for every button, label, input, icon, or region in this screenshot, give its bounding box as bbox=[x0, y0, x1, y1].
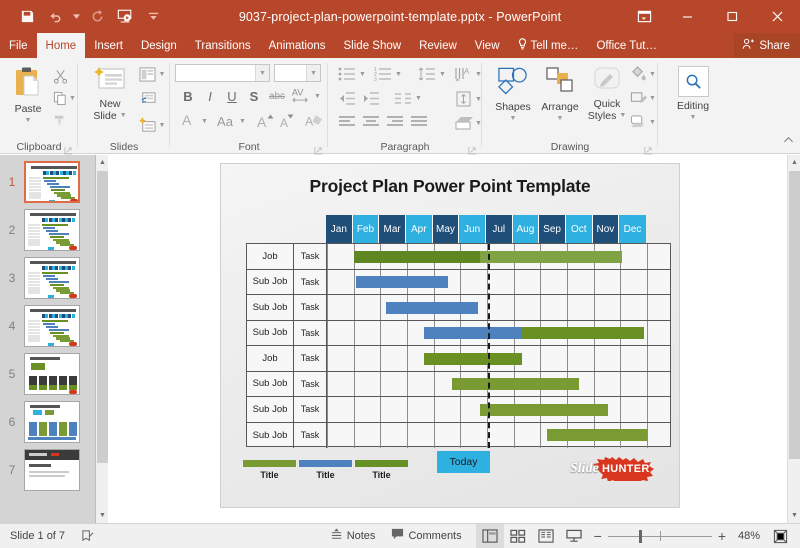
section-dropdown-icon[interactable]: ▼ bbox=[157, 114, 167, 136]
close-button[interactable] bbox=[755, 0, 800, 33]
thumbnail-number: 3 bbox=[0, 271, 24, 285]
thumbnail-number: 4 bbox=[0, 319, 24, 333]
gantt-job-label: Job bbox=[247, 346, 294, 371]
paste-icon bbox=[13, 66, 43, 101]
zoom-slider-handle[interactable] bbox=[639, 530, 642, 543]
month-header-feb: Feb bbox=[353, 215, 380, 243]
today-marker-label[interactable]: Today bbox=[437, 451, 490, 473]
notes-button[interactable]: Notes bbox=[322, 524, 384, 548]
minimize-button[interactable] bbox=[665, 0, 710, 33]
gantt-bar[interactable] bbox=[480, 404, 608, 416]
align-right-button[interactable] bbox=[384, 112, 406, 132]
editing-dropdown-icon[interactable]: ▼ bbox=[690, 114, 697, 122]
increase-font-size-button[interactable]: A bbox=[256, 110, 278, 132]
justify-button[interactable] bbox=[408, 112, 430, 132]
ribbon-group-paragraph: ▼ 123 ▼ ▼ A ▼ ▼ bbox=[328, 58, 482, 154]
legend-item-2: Title bbox=[355, 460, 408, 480]
notes-icon bbox=[330, 528, 343, 544]
stage-scroll-up-icon[interactable]: ▲ bbox=[788, 155, 800, 170]
stage-scroll-thumb[interactable] bbox=[789, 171, 800, 459]
spellcheck-icon[interactable] bbox=[73, 524, 103, 548]
svg-text:A: A bbox=[464, 67, 470, 76]
thumbnail-scrollbar[interactable]: ▲ ▼ bbox=[95, 155, 108, 523]
shape-effects-dropdown-icon[interactable]: ▼ bbox=[648, 112, 657, 132]
gantt-bar[interactable] bbox=[547, 429, 647, 441]
legend-label: Title bbox=[243, 470, 296, 480]
font-color-dropdown-icon[interactable]: ▼ bbox=[200, 110, 209, 132]
align-center-button[interactable] bbox=[360, 112, 382, 132]
bullets-button[interactable] bbox=[336, 64, 358, 84]
title-bar: 9037-project-plan-powerpoint-template.pp… bbox=[0, 0, 800, 33]
gantt-bar[interactable] bbox=[386, 302, 478, 314]
arrange-dropdown-icon[interactable]: ▼ bbox=[557, 115, 564, 123]
thumbnail-preview[interactable] bbox=[24, 161, 80, 203]
line-spacing-button[interactable] bbox=[416, 64, 438, 84]
comment-icon bbox=[391, 528, 404, 544]
comments-button[interactable]: Comments bbox=[383, 524, 469, 548]
gantt-month-header: JanFebMarAprMayJunJulAugSepOctNovDec bbox=[326, 215, 646, 243]
font-color-button[interactable]: A bbox=[178, 110, 200, 132]
month-header-jul: Jul bbox=[486, 215, 513, 243]
powerpoint-window: 9037-project-plan-powerpoint-template.pp… bbox=[0, 0, 800, 548]
thumbnail-number: 5 bbox=[0, 367, 24, 381]
new-slide-button[interactable]: New Slide ▼ bbox=[86, 66, 134, 122]
thumbnail-item-6[interactable]: 6 bbox=[0, 401, 96, 443]
character-spacing-button[interactable]: AV bbox=[289, 85, 313, 106]
gantt-bar[interactable] bbox=[356, 276, 448, 288]
gantt-row[interactable]: Sub JobTask bbox=[247, 295, 670, 321]
tab-view[interactable]: View bbox=[466, 33, 509, 58]
gantt-job-label: Sub Job bbox=[247, 423, 294, 449]
paste-button[interactable]: Paste ▼ bbox=[6, 66, 50, 125]
lightbulb-icon bbox=[518, 38, 527, 53]
gantt-task-label: Task bbox=[294, 321, 327, 346]
ribbon-group-editing: Editing ▼ bbox=[658, 58, 728, 154]
notes-label: Notes bbox=[347, 530, 376, 542]
tab-office-tutorials[interactable]: Office Tut… bbox=[587, 33, 666, 58]
svg-text:A: A bbox=[305, 115, 314, 129]
arrange-button[interactable]: Arrange ▼ bbox=[537, 66, 583, 123]
share-button[interactable]: Share bbox=[734, 33, 800, 58]
month-header-sep: Sep bbox=[539, 215, 566, 243]
thumbnail-item-7[interactable]: 7 bbox=[0, 449, 96, 491]
ribbon-display-options-icon[interactable] bbox=[623, 0, 665, 33]
status-bar: Slide 1 of 7 Notes Comments bbox=[0, 523, 800, 548]
fit-to-window-button[interactable] bbox=[766, 524, 794, 548]
gantt-job-label: Job bbox=[247, 244, 294, 269]
gantt-bar[interactable] bbox=[452, 378, 579, 390]
thumbnail-number: 6 bbox=[0, 415, 24, 429]
shape-effects-button[interactable] bbox=[628, 112, 648, 132]
legend-swatch bbox=[243, 460, 296, 467]
thumbnail-scroll-thumb[interactable] bbox=[97, 171, 108, 463]
comments-label: Comments bbox=[408, 530, 461, 542]
cut-button[interactable] bbox=[50, 66, 70, 86]
format-painter-button[interactable] bbox=[50, 110, 70, 130]
thumbnail-number: 7 bbox=[0, 463, 24, 477]
slideshow-view-button[interactable] bbox=[560, 524, 588, 548]
legend-item-1: Title bbox=[299, 460, 352, 480]
gantt-row[interactable]: Sub JobTask bbox=[247, 270, 670, 296]
find-icon bbox=[678, 66, 709, 97]
gantt-task-label: Task bbox=[294, 397, 327, 422]
logo-script-text: Slide bbox=[570, 461, 599, 477]
paragraph-dialog-launcher[interactable] bbox=[468, 142, 478, 152]
svg-text:3: 3 bbox=[374, 77, 377, 82]
gantt-row[interactable]: Sub JobTask bbox=[247, 397, 670, 423]
gantt-job-label: Sub Job bbox=[247, 270, 294, 295]
tab-home[interactable]: Home bbox=[37, 33, 86, 58]
slide-editing-stage[interactable]: Project Plan Power Point Template JanFeb… bbox=[108, 155, 787, 523]
slide-thumbnail-pane[interactable]: 1234567 bbox=[0, 155, 108, 523]
layout-button[interactable] bbox=[136, 64, 158, 84]
quick-styles-button[interactable]: Quick Styles ▼ bbox=[584, 66, 630, 122]
editing-label: Editing bbox=[677, 100, 709, 112]
slide-canvas[interactable]: Project Plan Power Point Template JanFeb… bbox=[220, 163, 680, 508]
change-case-button[interactable]: Aa bbox=[212, 110, 238, 132]
legend-label: Title bbox=[299, 470, 352, 480]
shapes-dropdown-icon[interactable]: ▼ bbox=[510, 115, 517, 123]
legend-swatch bbox=[355, 460, 408, 467]
thumbnail-number: 2 bbox=[0, 223, 24, 237]
reset-button[interactable] bbox=[136, 88, 158, 110]
tab-tell-me-label: Tell me… bbox=[531, 40, 579, 52]
ribbon: Paste ▼ ▼ Clipboard bbox=[0, 58, 800, 154]
gantt-task-label: Task bbox=[294, 295, 327, 320]
ribbon-group-clipboard: Paste ▼ ▼ Clipboard bbox=[0, 58, 78, 154]
month-header-nov: Nov bbox=[593, 215, 620, 243]
columns-dropdown-icon[interactable]: ▼ bbox=[414, 88, 423, 108]
change-case-dropdown-icon[interactable]: ▼ bbox=[238, 110, 247, 132]
quick-styles-icon bbox=[591, 66, 623, 97]
month-header-may: May bbox=[433, 215, 460, 243]
tab-insert[interactable]: Insert bbox=[85, 33, 132, 58]
tab-design[interactable]: Design bbox=[132, 33, 186, 58]
thumbnail-preview[interactable] bbox=[24, 209, 80, 251]
group-label-paragraph: Paragraph bbox=[328, 141, 482, 153]
increase-indent-button[interactable] bbox=[360, 88, 382, 108]
zoom-level-label: 48% bbox=[732, 524, 766, 548]
month-header-aug: Aug bbox=[513, 215, 540, 243]
gantt-task-label: Task bbox=[294, 423, 327, 449]
layout-dropdown-icon[interactable]: ▼ bbox=[157, 64, 167, 84]
shape-outline-dropdown-icon[interactable]: ▼ bbox=[648, 88, 657, 108]
align-left-button[interactable] bbox=[336, 112, 358, 132]
gantt-task-label: Task bbox=[294, 244, 327, 269]
thumbnail-preview[interactable] bbox=[24, 305, 80, 347]
tab-animations[interactable]: Animations bbox=[260, 33, 335, 58]
character-spacing-dropdown-icon[interactable]: ▼ bbox=[313, 86, 322, 106]
bold-button[interactable]: B bbox=[178, 86, 198, 106]
group-label-slides: Slides bbox=[78, 141, 170, 153]
align-text-button[interactable] bbox=[452, 88, 474, 110]
drawing-dialog-launcher[interactable] bbox=[644, 142, 654, 152]
text-shadow-button[interactable]: S bbox=[244, 86, 264, 106]
svg-text:A: A bbox=[280, 116, 288, 130]
month-header-oct: Oct bbox=[566, 215, 593, 243]
gantt-bar[interactable] bbox=[354, 251, 481, 263]
thumbnail-preview[interactable] bbox=[24, 353, 80, 395]
shapes-icon bbox=[497, 66, 530, 99]
person-share-icon bbox=[742, 38, 754, 53]
shape-outline-button[interactable] bbox=[628, 88, 648, 108]
gantt-row[interactable]: Sub JobTask bbox=[247, 423, 670, 449]
thumbnail-item-3[interactable]: 3 bbox=[0, 257, 96, 299]
thumbnail-item-5[interactable]: 5 bbox=[0, 353, 96, 395]
shapes-label: Shapes bbox=[495, 101, 531, 113]
gantt-job-label: Sub Job bbox=[247, 397, 294, 422]
quick-styles-label-2: Styles bbox=[588, 110, 617, 122]
text-direction-button[interactable]: A bbox=[452, 64, 474, 84]
legend-item-0: Title bbox=[243, 460, 296, 480]
thumbnail-item-2[interactable]: 2 bbox=[0, 209, 96, 251]
decrease-font-size-button[interactable]: A bbox=[278, 110, 300, 132]
shape-fill-dropdown-icon[interactable]: ▼ bbox=[648, 64, 657, 84]
maximize-button[interactable] bbox=[710, 0, 755, 33]
thumbnail-item-1[interactable]: 1 bbox=[0, 161, 96, 203]
line-spacing-dropdown-icon[interactable]: ▼ bbox=[438, 64, 447, 84]
paste-dropdown-icon[interactable]: ▼ bbox=[25, 117, 32, 125]
tab-file[interactable]: File bbox=[0, 33, 37, 58]
font-size-dropdown-icon[interactable]: ▼ bbox=[306, 65, 320, 81]
tab-transitions[interactable]: Transitions bbox=[186, 33, 260, 58]
ribbon-group-font: ▼ ▼ B I U S abc AV ▼ A ▼ Aa ▼ A bbox=[170, 58, 328, 154]
strikethrough-button[interactable]: abc bbox=[266, 86, 288, 106]
gantt-bar[interactable] bbox=[480, 251, 621, 263]
logo-burst-shape: HUNTER bbox=[593, 457, 659, 481]
today-marker-line bbox=[488, 244, 490, 448]
numbering-dropdown-icon[interactable]: ▼ bbox=[394, 64, 403, 84]
ribbon-tab-bar: File Home Insert Design Transitions Anim… bbox=[0, 33, 800, 58]
gantt-bar[interactable] bbox=[522, 327, 645, 339]
gantt-task-label: Task bbox=[294, 372, 327, 397]
quick-styles-dropdown-icon[interactable]: ▼ bbox=[619, 112, 626, 120]
tab-slide-show[interactable]: Slide Show bbox=[335, 33, 411, 58]
reading-view-button[interactable] bbox=[532, 524, 560, 548]
gantt-legend: TitleTitleTitle bbox=[243, 460, 408, 480]
thumbnail-number: 1 bbox=[0, 175, 24, 189]
stage-vertical-scrollbar[interactable]: ▲ ▼ bbox=[787, 155, 800, 523]
convert-to-smartart-button[interactable] bbox=[452, 112, 474, 134]
gantt-row[interactable]: JobTask bbox=[247, 346, 670, 372]
zoom-out-button[interactable]: − bbox=[588, 524, 608, 548]
underline-button[interactable]: U bbox=[222, 86, 242, 106]
font-dialog-launcher[interactable] bbox=[314, 142, 324, 152]
gantt-job-label: Sub Job bbox=[247, 295, 294, 320]
ribbon-group-slides: New Slide ▼ ▼ ▼ Slides bbox=[78, 58, 170, 154]
bullets-dropdown-icon[interactable]: ▼ bbox=[358, 64, 367, 84]
clipboard-dialog-launcher[interactable] bbox=[64, 142, 74, 152]
copy-dropdown-icon[interactable]: ▼ bbox=[68, 88, 77, 108]
slide-title[interactable]: Project Plan Power Point Template bbox=[221, 176, 679, 197]
arrange-icon bbox=[544, 66, 576, 99]
quick-styles-label-1: Quick bbox=[594, 98, 621, 110]
editing-button[interactable]: Editing ▼ bbox=[669, 66, 717, 122]
zoom-slider[interactable] bbox=[608, 524, 712, 548]
slide-counter: Slide 1 of 7 bbox=[0, 524, 73, 548]
ribbon-group-drawing: Shapes ▼ Arrange ▼ bbox=[482, 58, 658, 154]
gantt-row[interactable]: Sub JobTask bbox=[247, 321, 670, 347]
month-header-dec: Dec bbox=[619, 215, 646, 243]
legend-label: Title bbox=[355, 470, 408, 480]
font-name-dropdown-icon[interactable]: ▼ bbox=[255, 65, 269, 81]
decrease-indent-button[interactable] bbox=[336, 88, 358, 108]
shapes-button[interactable]: Shapes ▼ bbox=[490, 66, 536, 123]
gantt-bar[interactable] bbox=[424, 327, 521, 339]
paste-label: Paste bbox=[15, 103, 42, 115]
group-label-font: Font bbox=[170, 141, 328, 153]
clear-formatting-button[interactable]: A bbox=[303, 110, 325, 132]
slide-sorter-view-button[interactable] bbox=[504, 524, 532, 548]
svg-text:A: A bbox=[182, 112, 192, 128]
thumbnail-item-4[interactable]: 4 bbox=[0, 305, 96, 347]
gantt-row[interactable]: Sub JobTask bbox=[247, 372, 670, 398]
new-slide-label-1: New bbox=[99, 98, 120, 110]
slidehunter-logo: Slide HUNTER bbox=[570, 456, 670, 482]
gantt-table[interactable]: JobTaskSub JobTaskSub JobTaskSub JobTask… bbox=[246, 243, 671, 447]
tab-review[interactable]: Review bbox=[410, 33, 466, 58]
gantt-bar[interactable] bbox=[424, 353, 521, 365]
month-header-jan: Jan bbox=[326, 215, 353, 243]
copy-button[interactable] bbox=[50, 88, 70, 108]
month-header-apr: Apr bbox=[406, 215, 433, 243]
font-size-input[interactable]: ▼ bbox=[274, 64, 321, 82]
numbering-button[interactable]: 123 bbox=[372, 64, 394, 84]
italic-button[interactable]: I bbox=[200, 86, 220, 106]
window-controls bbox=[623, 0, 800, 33]
tab-tell-me[interactable]: Tell me… bbox=[509, 33, 588, 58]
arrange-label: Arrange bbox=[541, 101, 578, 113]
thumbnail-preview[interactable] bbox=[24, 401, 80, 443]
new-slide-icon bbox=[94, 66, 126, 97]
month-header-jun: Jun bbox=[459, 215, 486, 243]
gantt-job-label: Sub Job bbox=[247, 321, 294, 346]
new-slide-label-2: Slide bbox=[93, 110, 116, 122]
gantt-task-label: Task bbox=[294, 346, 327, 371]
gantt-job-label: Sub Job bbox=[247, 372, 294, 397]
gantt-row[interactable]: JobTask bbox=[247, 244, 670, 270]
group-label-drawing: Drawing bbox=[482, 141, 658, 153]
section-button[interactable] bbox=[136, 114, 158, 136]
columns-button[interactable] bbox=[392, 88, 414, 108]
svg-text:AV: AV bbox=[292, 88, 304, 98]
new-slide-dropdown-icon[interactable]: ▼ bbox=[120, 112, 127, 120]
font-name-input[interactable]: ▼ bbox=[175, 64, 270, 82]
stage-scroll-down-icon[interactable]: ▼ bbox=[788, 508, 800, 523]
thumbnail-preview[interactable] bbox=[24, 449, 80, 491]
share-label: Share bbox=[759, 40, 790, 52]
normal-view-button[interactable] bbox=[476, 524, 504, 548]
shape-fill-button[interactable] bbox=[628, 64, 648, 84]
svg-text:A: A bbox=[257, 114, 267, 130]
logo-bold-text: HUNTER bbox=[593, 457, 659, 481]
zoom-in-button[interactable]: + bbox=[712, 524, 732, 548]
gantt-task-label: Task bbox=[294, 270, 327, 295]
month-header-mar: Mar bbox=[379, 215, 406, 243]
thumbnail-preview[interactable] bbox=[24, 257, 80, 299]
collapse-ribbon-icon[interactable] bbox=[780, 132, 796, 148]
legend-swatch bbox=[299, 460, 352, 467]
